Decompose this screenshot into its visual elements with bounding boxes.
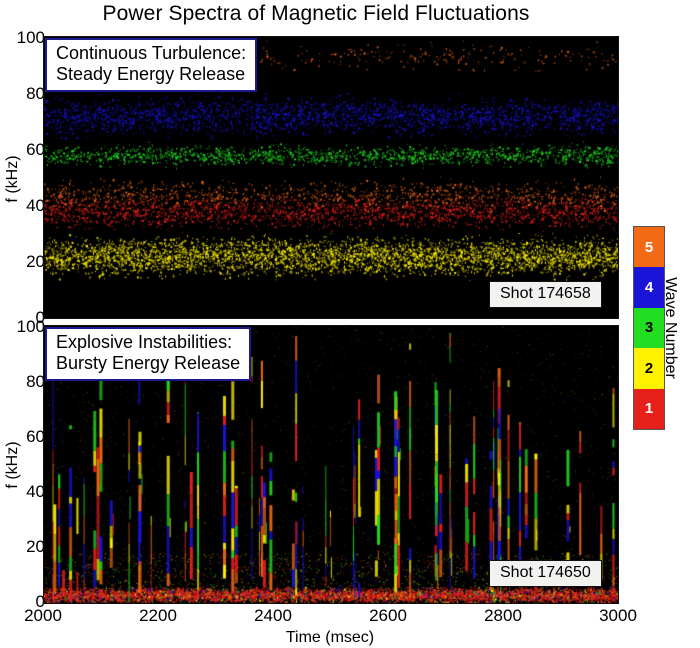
annotation-bottom: Explosive Instabilities:Bursty Energy Re… [45,327,251,381]
page-title: Power Spectra of Magnetic Field Fluctuat… [0,2,632,26]
legend-swatch-label: 1 [645,400,653,417]
colorbar-title: Wave Number [660,226,680,430]
y-axis-label-bottom: f (kHz) [4,430,22,500]
y-tick-80: 80 [0,85,45,102]
annotation-top: Continuous Turbulence:Steady Energy Rele… [45,38,257,92]
x-tick-2400: 2400 [233,607,313,624]
x-tick-2800: 2800 [463,607,543,624]
legend-swatch-label: 5 [645,239,653,256]
x-tick-3000: 3000 [578,607,658,624]
annotation-line-1: Steady Energy Release [56,64,246,85]
y-axis-label-top: f (kHz) [4,144,22,214]
legend-swatch-label: 2 [645,360,653,377]
y-tick-b-20: 20 [0,538,45,555]
x-axis-label: Time (msec) [43,629,617,647]
legend-swatch-label: 3 [645,319,653,336]
annotation-line-1: Bursty Energy Release [56,353,240,374]
legend-swatch-label: 4 [645,279,653,296]
y-tick-b-80: 80 [0,373,45,390]
figure-root: Power Spectra of Magnetic Field Fluctuat… [0,0,700,648]
colorbar-title-text: Wave Number [661,277,679,379]
y-tick-100: 100 [0,29,45,46]
annotation-line-0: Continuous Turbulence: [56,43,246,64]
annotation-line-0: Explosive Instabilities: [56,332,240,353]
y-tick-20: 20 [0,253,45,270]
shot-label-top: Shot 174658 [489,281,602,308]
x-tick-2000: 2000 [3,607,83,624]
shot-label-bottom: Shot 174650 [489,560,602,587]
x-tick-2600: 2600 [348,607,428,624]
x-tick-2200: 2200 [118,607,198,624]
y-tick-b-100: 100 [0,318,45,335]
